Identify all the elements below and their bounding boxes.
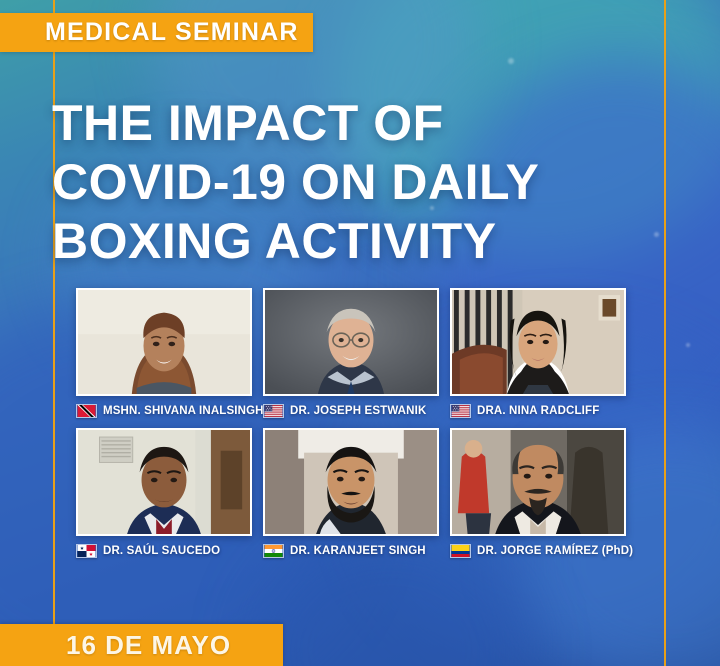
page-title: THE IMPACT OF COVID-19 ON DAILY BOXING A… <box>52 94 652 271</box>
panama-flag-icon <box>76 544 97 558</box>
trinidad-and-tobago-flag-icon <box>76 404 97 418</box>
speaker-grid: MSHN. SHIVANA INALSINGH <box>76 288 642 559</box>
speaker-photo-joseph-estwanik <box>263 288 439 396</box>
speaker-photo-shivana-inalsingh <box>76 288 252 396</box>
speaker-card: DR. JORGE RAMÍREZ (PhD) <box>450 428 626 559</box>
united-states-flag-icon <box>263 404 284 418</box>
background-speck <box>654 232 659 237</box>
speaker-photo-karanjeet-singh <box>263 428 439 536</box>
speaker-name: MSHN. SHIVANA INALSINGH <box>103 405 264 417</box>
speaker-name: DR. KARANJEET SINGH <box>290 545 426 557</box>
speaker-card: DR. SAÚL SAUCEDO <box>76 428 252 559</box>
date-banner: 16 DE MAYO <box>0 624 283 666</box>
speaker-name-row: DR. JOSEPH ESTWANIK <box>263 403 439 419</box>
speaker-name: DR. JOSEPH ESTWANIK <box>290 405 426 417</box>
title-line-1: THE IMPACT OF <box>52 94 652 153</box>
colombia-flag-icon <box>450 544 471 558</box>
united-states-flag-icon <box>450 404 471 418</box>
speaker-photo-saul-saucedo <box>76 428 252 536</box>
speaker-name-row: DR. SAÚL SAUCEDO <box>76 543 252 559</box>
india-flag-icon <box>263 544 284 558</box>
speaker-card: DR. JOSEPH ESTWANIK <box>263 288 439 419</box>
speaker-name-row: MSHN. SHIVANA INALSINGH <box>76 403 252 419</box>
title-line-2: COVID-19 ON DAILY <box>52 153 652 212</box>
background-speck <box>508 58 514 64</box>
speaker-name: DRA. NINA RADCLIFF <box>477 405 599 417</box>
speaker-name-row: DR. KARANJEET SINGH <box>263 543 439 559</box>
speaker-name-row: DRA. NINA RADCLIFF <box>450 403 626 419</box>
speaker-name-row: DR. JORGE RAMÍREZ (PhD) <box>450 543 626 559</box>
date-label: 16 DE MAYO <box>66 630 231 661</box>
speaker-name: DR. SAÚL SAUCEDO <box>103 545 220 557</box>
title-line-3: BOXING ACTIVITY <box>52 212 652 271</box>
speaker-photo-nina-radcliff <box>450 288 626 396</box>
right-vertical-rule <box>664 0 666 666</box>
speaker-card: DR. KARANJEET SINGH <box>263 428 439 559</box>
eyebrow-label: MEDICAL SEMINAR <box>45 18 299 47</box>
background-speck <box>686 343 690 347</box>
speaker-card: MSHN. SHIVANA INALSINGH <box>76 288 252 419</box>
seminar-poster: MEDICAL SEMINAR THE IMPACT OF COVID-19 O… <box>0 0 720 666</box>
speaker-photo-card: DRA. NINA RADCLIFF <box>450 288 626 419</box>
speaker-name: DR. JORGE RAMÍREZ (PhD) <box>477 545 633 557</box>
speaker-photo-jorge-ramirez <box>450 428 626 536</box>
eyebrow-banner: MEDICAL SEMINAR <box>0 13 313 52</box>
